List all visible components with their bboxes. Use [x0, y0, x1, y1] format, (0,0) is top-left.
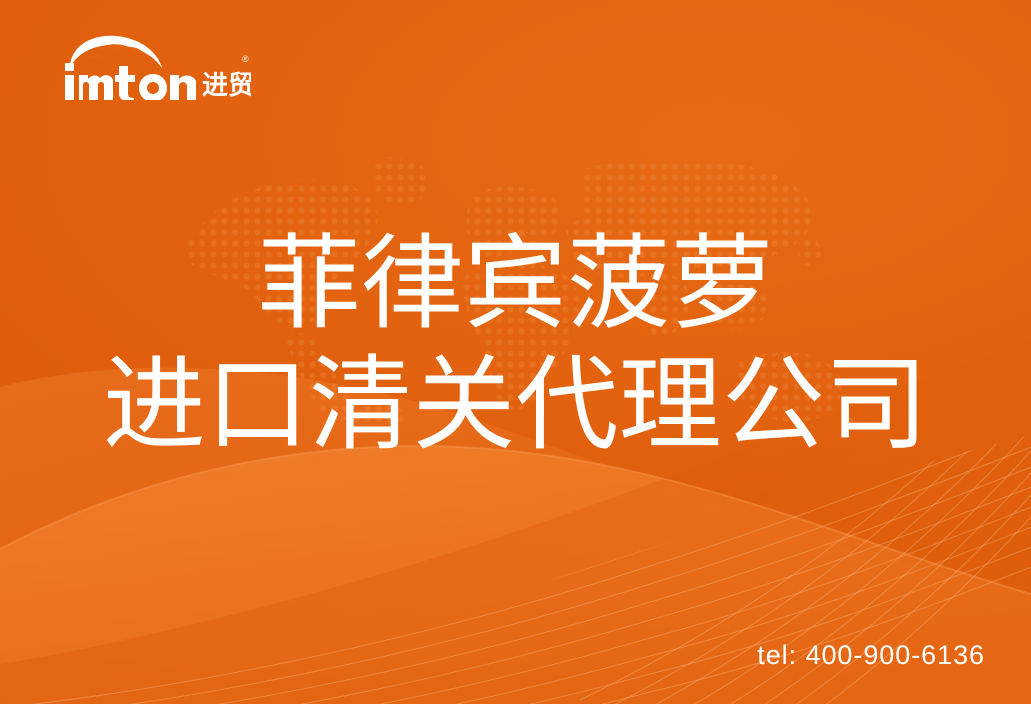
registered-trademark-symbol: ®: [242, 54, 249, 64]
promo-banner: 进贸通 ® 菲律宾菠萝 进口清关代理公司 tel: 400-900-6136: [0, 0, 1031, 704]
logo-wordmark: [65, 63, 196, 100]
contact-phone[interactable]: tel: 400-900-6136: [757, 640, 985, 671]
world-map-dots: [175, 128, 875, 428]
globe-arc-icon: [70, 36, 162, 72]
logo-chinese-name: 进贸通: [202, 70, 251, 100]
brand-logo[interactable]: 进贸通 ®: [36, 28, 251, 100]
